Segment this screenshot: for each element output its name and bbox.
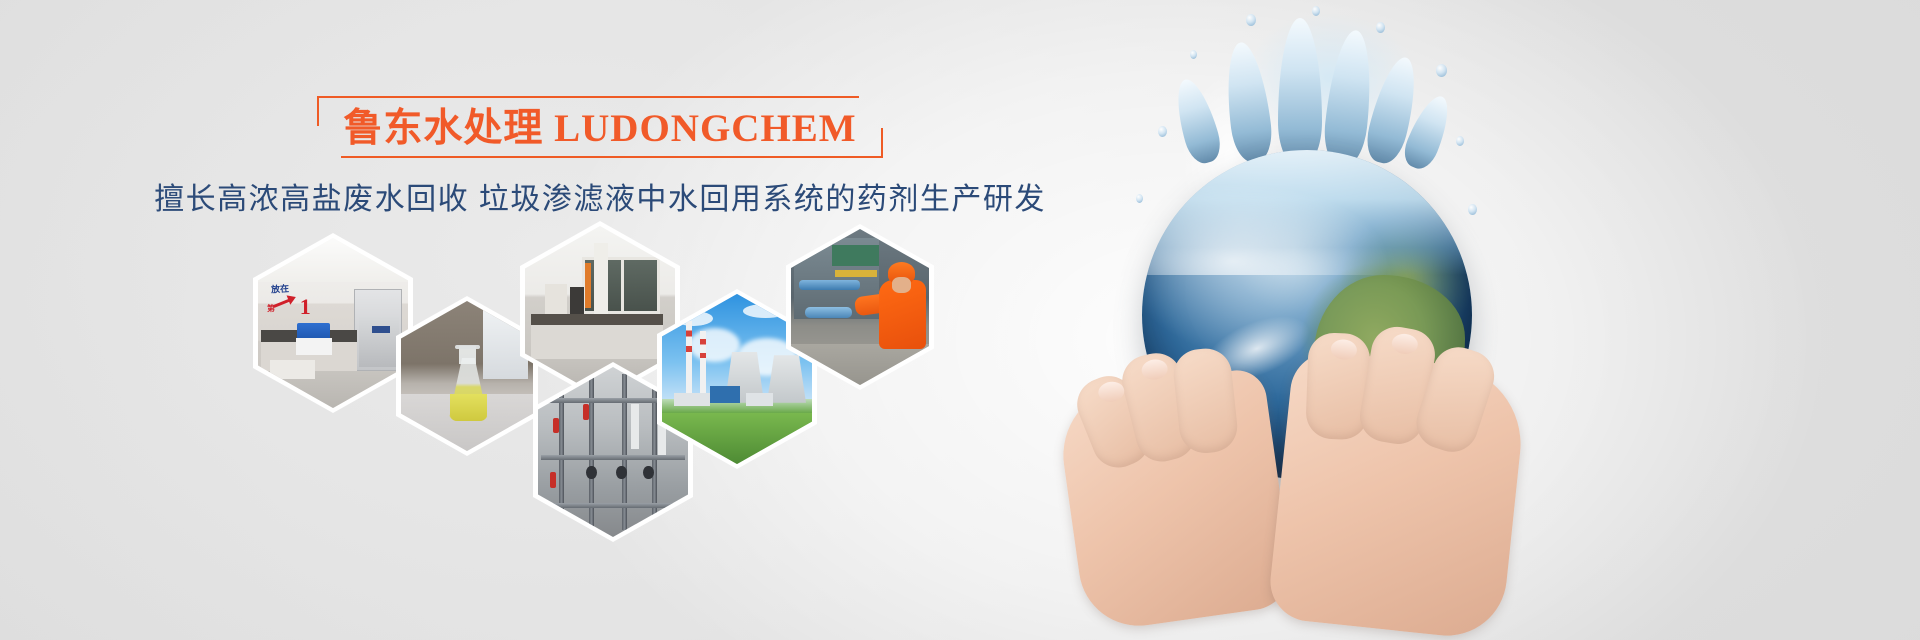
water-droplet-1 <box>1158 126 1167 137</box>
hex-image-worker <box>791 229 929 385</box>
water-droplet-6 <box>1436 64 1447 77</box>
water-droplet-2 <box>1190 50 1197 59</box>
dosing-tank-1 <box>631 404 639 448</box>
slogan-text-mid: 第 <box>267 303 275 314</box>
plant-building-1 <box>674 393 710 407</box>
wall-slogan-graphic: 放在 第 1 <box>267 282 330 326</box>
slogan-text-top: 放在 <box>270 282 289 296</box>
valve-body-2 <box>616 466 627 480</box>
title-frame: 鲁东水处理 LUDONGCHEM <box>317 96 882 158</box>
water-droplet-5 <box>1376 22 1385 33</box>
hex-image-lab-room: 放在 第 1 <box>258 238 408 408</box>
glasslab-equipment <box>545 284 568 315</box>
window-mullion <box>621 260 624 312</box>
valve-body-3 <box>643 466 654 480</box>
water-droplet-3 <box>1246 14 1256 26</box>
plant-building-2 <box>746 393 773 407</box>
lab-white-instrument <box>296 338 332 355</box>
worker-blue-pipe-1 <box>799 280 860 289</box>
glasslab-bench-top <box>531 314 663 324</box>
flask-lip <box>455 345 480 350</box>
slogan-arrow-icon <box>274 297 295 308</box>
page-subtitle: 擅长高浓高盐废水回收 垃圾渗滤液中水回用系统的药剂生产研发 <box>0 180 1200 220</box>
cloud-2 <box>743 304 788 318</box>
hex-image-flask-sample <box>401 301 533 451</box>
lab-cabinet-lower <box>359 316 400 367</box>
valve-handle-red-1 <box>553 418 559 433</box>
hex-tile-flask-sample[interactable] <box>396 296 538 456</box>
page-title: 鲁东水处理 LUDONGCHEM <box>343 104 856 154</box>
headline-block: 鲁东水处理 LUDONGCHEM 擅长高浓高盐废水回收 垃圾渗滤液中水回用系统的… <box>0 96 1200 220</box>
valve-handle-red-2 <box>583 404 589 419</box>
plant-building-blue <box>710 386 740 403</box>
title-top-rule <box>341 96 858 98</box>
glasslab-dark-unit <box>570 287 584 314</box>
glasslab-bench-body <box>531 325 663 359</box>
hex-tile-lab-room[interactable]: 放在 第 1 <box>253 233 413 413</box>
chimney-stack-2 <box>700 331 706 399</box>
bracket-bottom-right-icon <box>857 128 883 158</box>
pipe-header-mid <box>541 455 685 460</box>
chimney-stack-1 <box>686 321 692 399</box>
splash-crown-3 <box>1278 18 1322 166</box>
splash-crown-4 <box>1321 28 1377 168</box>
valve-body-1 <box>586 466 597 480</box>
water-droplet-4 <box>1312 6 1320 16</box>
splash-crown-2 <box>1221 40 1275 164</box>
worker-yellow-rail <box>835 270 876 278</box>
bracket-top-left-icon <box>317 96 343 126</box>
worker-face <box>892 277 911 293</box>
slogan-number-one: 1 <box>300 294 311 320</box>
glasslab-orange-stand <box>585 263 591 307</box>
pipe-header-bottom <box>541 503 685 508</box>
lab-cabinet-display <box>372 326 390 333</box>
globe-water-surface <box>1142 150 1472 275</box>
hand-right <box>1267 348 1529 640</box>
title-bottom-rule <box>341 156 858 158</box>
water-droplet-7 <box>1456 136 1464 146</box>
worker-blue-pipe-2 <box>805 307 852 318</box>
lab-ceiling <box>258 238 408 282</box>
lab-jugs <box>270 360 315 379</box>
hand-left <box>1054 367 1295 634</box>
hero-banner: 鲁东水处理 LUDONGCHEM 擅长高浓高盐废水回收 垃圾渗滤液中水回用系统的… <box>0 0 1920 640</box>
worker-green-panel <box>832 245 879 267</box>
valve-handle-red-3 <box>550 472 556 487</box>
water-globe-artwork <box>1030 0 1590 640</box>
flask-yellow-liquid <box>450 394 487 421</box>
